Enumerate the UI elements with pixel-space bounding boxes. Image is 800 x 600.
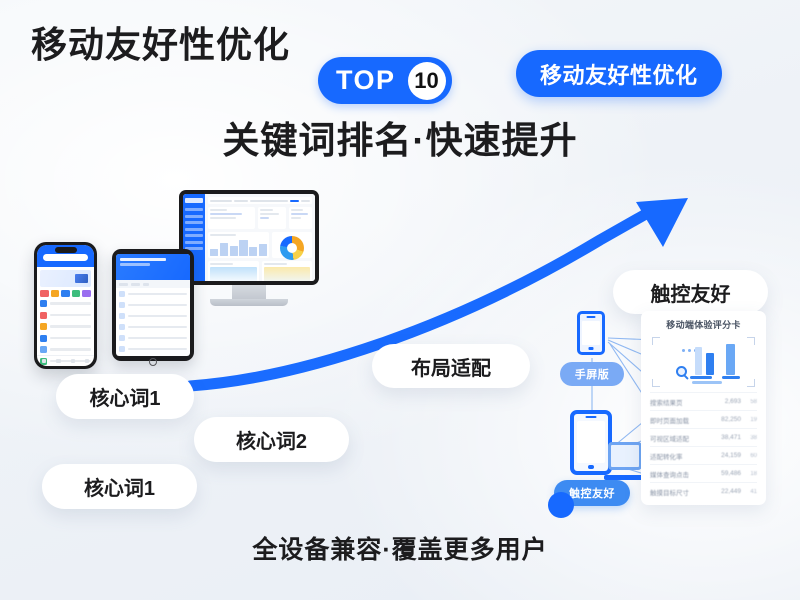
magnifier-icon: [676, 366, 687, 377]
scorecard-row: 适配转化率24,15960: [650, 446, 757, 464]
scorecard-row-score: 60: [745, 453, 757, 459]
scorecard-row-list: 搜索结果页2,69358即时页面加载82,25019可视区域适配38,47138…: [650, 392, 757, 500]
tablet-mockup: [112, 249, 194, 361]
scorecard-row-name: 可视区域适配: [650, 433, 717, 443]
scorecard-row: 即时页面加载82,25019: [650, 410, 757, 428]
device-mockup-group: [24, 190, 354, 400]
page-subtitle: 关键词排名·快速提升: [0, 122, 800, 159]
small-phone-icon: [577, 311, 605, 355]
scorecard-row-name: 即时页面加载: [650, 415, 717, 425]
keyword-pill-1[interactable]: 核心词1: [56, 374, 194, 419]
scorecard-row: 搜索结果页2,69358: [650, 392, 757, 410]
layout-adapt-pill[interactable]: 布局适配: [372, 344, 530, 388]
mobile-experience-scorecard: 移动端体验评分卡 搜索结果页2,69358即时页面加载82,25019可视区域适…: [641, 311, 766, 505]
top-badge-number: 10: [408, 62, 446, 100]
scorecard-row-score: 58: [745, 399, 757, 405]
scorecard-row-value: 24,159: [721, 452, 741, 459]
footer-tagline: 全设备兼容·覆盖更多用户: [0, 530, 800, 566]
scorecard-row-name: 搜索结果页: [650, 397, 721, 407]
scorecard-row-value: 22,449: [721, 488, 741, 495]
desktop-monitor-mockup: [179, 190, 319, 306]
scorecard-row-value: 59,486: [721, 470, 741, 477]
phone-notch: [55, 247, 77, 253]
laptop-icon: [604, 442, 646, 480]
phone-tab-bar: [37, 355, 94, 366]
scorecard-title: 移动端体验评分卡: [650, 318, 757, 331]
top-10-badge: TOP 10: [318, 57, 452, 104]
phone-mockup: [34, 242, 97, 369]
scorecard-row: 可视区域适配38,47138: [650, 428, 757, 446]
keyword-pill-3[interactable]: 核心词1: [42, 464, 197, 509]
scorecard-row: 触摸目标尺寸22,44941: [650, 482, 757, 500]
dashboard-screen: [183, 194, 315, 281]
scorecard-row-name: 适配转化率: [650, 451, 717, 461]
scorecard-row-value: 82,250: [721, 416, 741, 423]
scorecard-row: 媒体查询点击59,48618: [650, 464, 757, 482]
diagram-badge-screen-version: 手屏版: [560, 362, 624, 386]
tablet-home-button: [149, 358, 157, 366]
header-tag-pill: 移动友好性优化: [516, 50, 722, 97]
scorecard-illustration: [652, 337, 755, 387]
scorecard-row-score: 18: [745, 471, 757, 477]
scorecard-row-score: 41: [745, 489, 757, 495]
scorecard-row-score: 19: [745, 417, 757, 423]
scorecard-row-value: 38,471: [721, 434, 741, 441]
phone-search-bar: [43, 254, 88, 261]
phone-banner: [40, 270, 91, 287]
scorecard-row-value: 2,693: [725, 398, 741, 405]
donut-chart: [280, 236, 304, 260]
scorecard-row-name: 触摸目标尺寸: [650, 487, 717, 497]
keyword-pill-2[interactable]: 核心词2: [194, 417, 349, 462]
top-badge-word: TOP: [336, 67, 408, 94]
scorecard-row-name: 媒体查询点击: [650, 469, 717, 479]
scorecard-row-score: 38: [745, 435, 757, 441]
page-title: 移动友好性优化: [31, 27, 290, 63]
diagram-accent-dot: [548, 492, 574, 518]
